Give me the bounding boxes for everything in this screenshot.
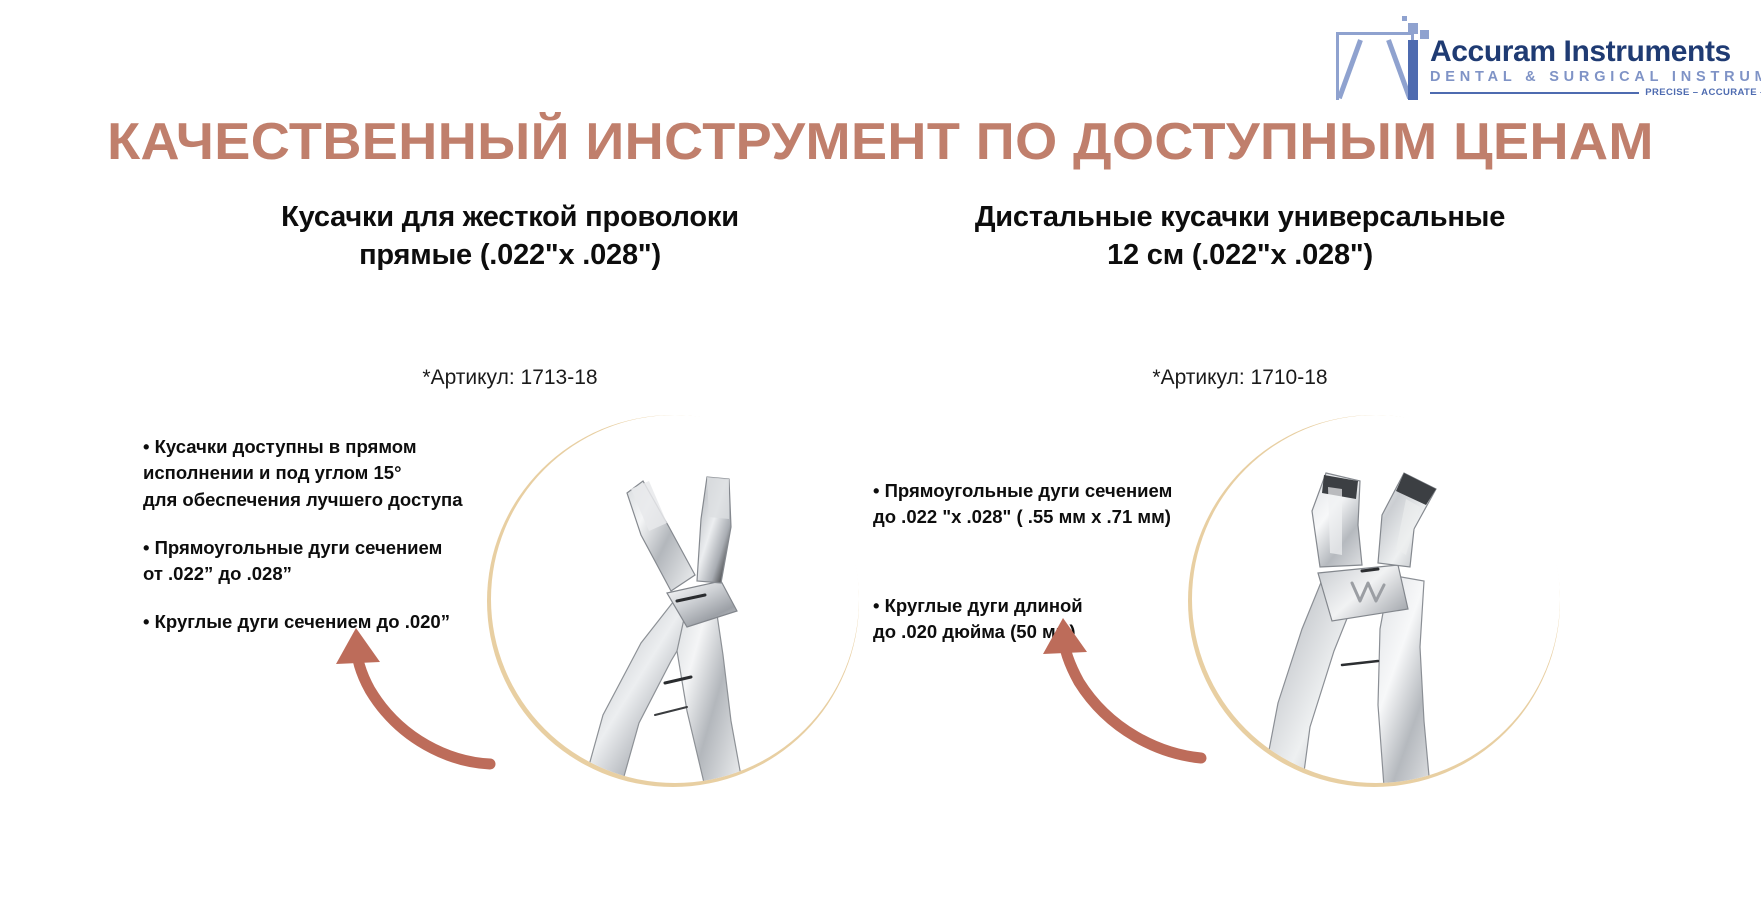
curved-arrow-left-icon: [330, 612, 500, 772]
brand-logo: Accuram Instruments DENTAL & SURGICAL IN…: [1334, 14, 1748, 100]
logo-pixel-dot-small: [1402, 16, 1407, 21]
distal-end-cutter-illustration: [1192, 415, 1560, 783]
bullet-item: • Кусачки доступны в прямом исполнении и…: [143, 434, 473, 513]
product-photo-right: [1192, 415, 1560, 783]
bullet-item: • Прямоугольные дуги сечением от .022” д…: [143, 535, 473, 588]
logo-mark-icon: [1334, 14, 1430, 100]
product-title-right: Дистальные кусачки универсальные 12 см (…: [920, 198, 1560, 275]
product-sku-left: *Артикул: 1713-18: [190, 366, 830, 390]
logo-divider-rule: [1430, 92, 1639, 94]
bullet-item: • Прямоугольные дуги сечением до .022 "х…: [873, 478, 1203, 531]
page-headline: КАЧЕСТВЕННЫЙ ИНСТРУМЕНТ ПО ДОСТУПНЫМ ЦЕН…: [0, 112, 1761, 172]
brand-tagline-row: PRECISE – ACCURATE – INNOVATIVE: [1430, 87, 1761, 98]
logo-text-block: Accuram Instruments DENTAL & SURGICAL IN…: [1430, 37, 1761, 100]
logo-pixel-dot-large: [1408, 23, 1418, 34]
brand-subtitle: DENTAL & SURGICAL INSTRUMENTS: [1430, 68, 1761, 86]
product-photo-left: [491, 415, 859, 783]
logo-letter-i-bar: [1408, 40, 1418, 100]
brand-tagline: PRECISE – ACCURATE – INNOVATIVE: [1645, 87, 1761, 98]
curved-arrow-right-icon: [1035, 600, 1210, 765]
logo-pixel-dot-medium: [1420, 30, 1429, 39]
product-title-left: Кусачки для жесткой проволоки прямые (.0…: [190, 198, 830, 275]
product-bullets-left: • Кусачки доступны в прямом исполнении и…: [143, 434, 473, 636]
brand-name: Accuram Instruments: [1430, 37, 1761, 68]
wire-cutter-pliers-illustration: [491, 415, 859, 783]
product-sku-right: *Артикул: 1710-18: [920, 366, 1560, 390]
